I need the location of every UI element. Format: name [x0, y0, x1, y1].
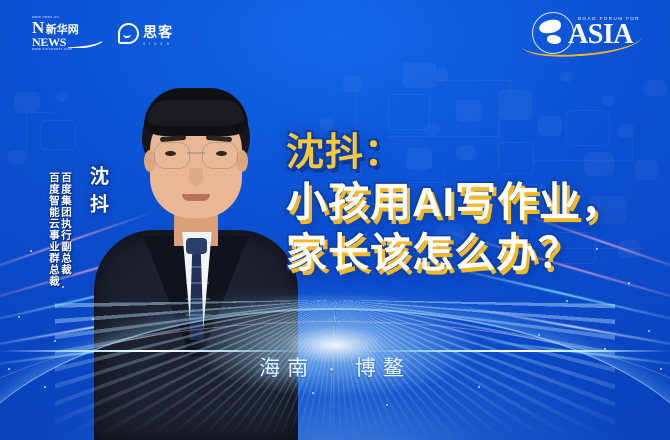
boao-forum-logo[interactable]: BOAO FORUM FOR ASIA [532, 12, 640, 54]
guest-title-line-2: 百度智能云事业群总裁 [48, 172, 59, 287]
siker-logo[interactable]: 思客 S I K E R [118, 22, 173, 46]
header-logo-group: www.news.cn N 新华网 NEWS www.xinhuanet.com… [32, 16, 173, 52]
xinhuanet-swoosh-icon [68, 39, 102, 48]
headline-speaker-line: 沈抖： [286, 134, 623, 173]
xinhuanet-logo[interactable]: www.news.cn N 新华网 NEWS www.xinhuanet.com [32, 16, 102, 52]
guest-title-line-1: 百度集团执行副总裁 [60, 172, 71, 276]
headline-block: 沈抖： 小孩用AI写作业， 家长该怎么办？ [286, 134, 623, 274]
boao-tagline: BOAO FORUM FOR [578, 17, 640, 22]
boao-arc-icon [521, 23, 642, 59]
headline-line-2: 家长该怎么办？ [286, 233, 623, 275]
xinhuanet-url-top: www.news.cn [32, 16, 102, 19]
siker-pinyin: S I K E R [143, 42, 173, 46]
headline-line-1: 小孩用AI写作业， [286, 182, 623, 224]
xinhuanet-letter-n: N [32, 19, 44, 36]
siker-cn-name: 思客 [143, 22, 173, 42]
poster-canvas: www.news.cn N 新华网 NEWS www.xinhuanet.com… [0, 0, 670, 440]
event-location: 海南 · 博鳌 [0, 352, 670, 382]
center-glow [185, 290, 485, 400]
siker-mark-icon [118, 23, 139, 44]
guest-title-block: 百度智能云事业群总裁 百度集团执行副总裁 [48, 172, 71, 287]
guest-name: 沈抖 [88, 166, 107, 222]
xinhuanet-url-bottom: www.xinhuanet.com [32, 48, 102, 51]
